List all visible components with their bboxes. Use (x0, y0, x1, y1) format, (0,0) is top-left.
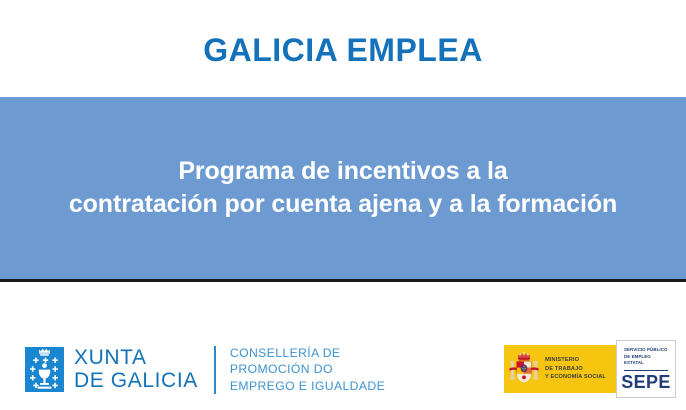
program-banner: Programa de incentivos a la contratación… (0, 97, 686, 282)
conselleria-line-2: PROMOCIÓN DO (230, 361, 385, 377)
ministerio-line-1: MINISTERIO (545, 356, 606, 364)
banner-heading: Programa de incentivos a la contratación… (55, 155, 631, 221)
spain-coat-of-arms-icon (507, 349, 541, 389)
footer-logo-strip: XUNTA DE GALICIA CONSELLERÍA DE PROMOCIÓ… (0, 285, 686, 410)
banner-heading-line-2: contratación por cuenta ajena y a la for… (69, 188, 617, 221)
xunta-emblem-icon (25, 347, 64, 392)
page-title: GALICIA EMPLEA (203, 34, 483, 66)
sepe-subtitle-line-1: SERVICIO PÚBLICO (624, 347, 668, 353)
title-section: GALICIA EMPLEA (0, 0, 686, 97)
sepe-subtitle: SERVICIO PÚBLICO DE EMPLEO ESTATAL (624, 347, 668, 366)
ministerio-line-2: DE TRABAJO (545, 365, 606, 373)
sepe-subtitle-line-2: DE EMPLEO ESTATAL (624, 354, 668, 367)
banner-heading-line-1: Programa de incentivos a la (69, 155, 617, 188)
ministerio-line-3: Y ECONOMÍA SOCIAL (545, 373, 606, 381)
sepe-rule (624, 370, 668, 371)
conselleria-line-3: EMPREGO E IGUALDADE (230, 378, 385, 394)
sepe-acronym: SEPE (621, 373, 671, 391)
ministerio-wordmark: MINISTERIO DE TRABAJO Y ECONOMÍA SOCIAL (545, 356, 606, 381)
xunta-de-galicia-logo: XUNTA DE GALICIA CONSELLERÍA DE PROMOCIÓ… (25, 345, 385, 394)
logo-divider (214, 346, 216, 394)
xunta-wordmark: XUNTA DE GALICIA (74, 347, 198, 392)
xunta-wordmark-line-1: XUNTA (74, 347, 198, 370)
sepe-logo: SERVICIO PÚBLICO DE EMPLEO ESTATAL SEPE (616, 340, 676, 398)
conselleria-line-1: CONSELLERÍA DE (230, 345, 385, 361)
xunta-wordmark-line-2: DE GALICIA (74, 370, 198, 393)
conselleria-text: CONSELLERÍA DE PROMOCIÓN DO EMPREGO E IG… (230, 345, 385, 394)
ministerio-trabajo-logo: MINISTERIO DE TRABAJO Y ECONOMÍA SOCIAL (504, 345, 616, 393)
